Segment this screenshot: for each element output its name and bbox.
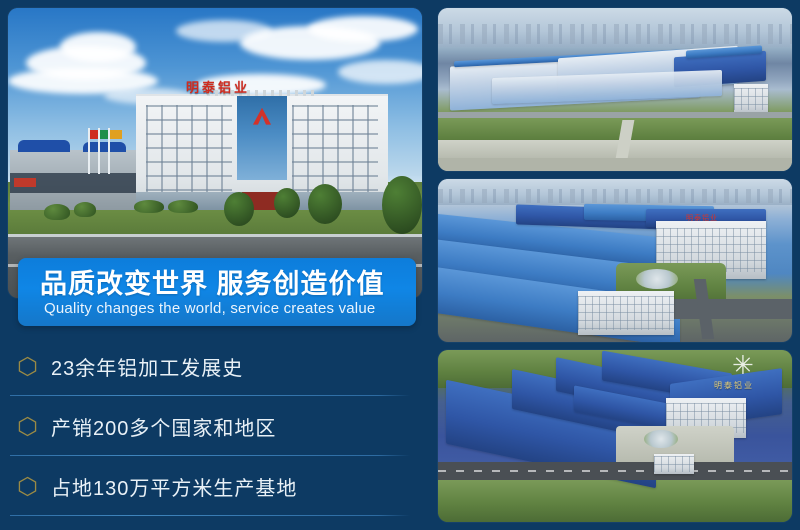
aerial-plant-close-photo: 明泰铝业 — [438, 179, 792, 342]
distant-city-skyline — [438, 24, 792, 44]
hexagon-outline-icon — [18, 356, 37, 377]
hexagon-outline-icon — [18, 476, 37, 497]
flag-pole — [108, 128, 110, 174]
fountain-shape — [644, 430, 678, 448]
shrub-shape — [74, 202, 96, 217]
promo-page: 明泰铝业 品质改变世界 服务创造价值 Quality changes the w… — [0, 0, 800, 530]
front-office-block — [578, 291, 674, 335]
company-headquarters-photo: 明泰铝业 — [8, 8, 422, 298]
tree-shape — [224, 192, 254, 226]
shrub-shape — [168, 200, 198, 213]
aerial-plant-wide-photo — [438, 8, 792, 171]
tree-shape — [308, 184, 342, 224]
cloud-shape — [60, 32, 136, 62]
flag-pole — [98, 128, 100, 174]
feature-list: 23余年铝加工发展史 产销200多个国家和地区 占地130万平方米生产基地 — [0, 336, 424, 530]
feature-label: 产销200多个国家和地区 — [51, 412, 276, 441]
hexagon-outline-icon — [18, 416, 37, 437]
tree-belt — [438, 480, 792, 522]
sunburst-icon: ✳ — [732, 352, 754, 378]
tree-shape — [382, 176, 422, 234]
headquarters-building — [136, 94, 388, 210]
flag-pole — [88, 128, 90, 174]
entrance-gate — [654, 454, 694, 474]
slogan-english-text: Quality changes the world, service creat… — [44, 300, 375, 317]
plant-office-block — [734, 84, 768, 114]
feature-label: 占地130万平方米生产基地 — [51, 472, 297, 501]
distant-buildings — [438, 189, 792, 204]
window-grid — [292, 105, 378, 201]
access-road — [438, 158, 792, 171]
feature-label: 23余年铝加工发展史 — [51, 352, 243, 381]
road-markings — [438, 470, 792, 472]
tree-shape — [274, 188, 300, 218]
feature-row[interactable]: 23余年铝加工发展史 — [0, 336, 424, 396]
rendered-company-sign: 明泰铝业 — [714, 380, 754, 391]
glass-curtain-wall — [237, 96, 287, 180]
plant-rendering-photo: 明泰铝业 ✳ — [438, 350, 792, 522]
red-sign-shape — [14, 178, 36, 187]
blue-roof-shape — [18, 140, 71, 152]
fountain-shape — [636, 269, 678, 289]
slogan-banner: 品质改变世界 服务创造价值 Quality changes the world,… — [18, 258, 416, 326]
feature-row[interactable]: 占地130万平方米生产基地 — [0, 456, 424, 516]
side-workshop-building — [10, 150, 136, 210]
shrub-shape — [134, 200, 164, 213]
shrub-shape — [44, 204, 70, 220]
feature-row[interactable]: 产销200多个国家和地区 — [0, 396, 424, 456]
slogan-chinese-text: 品质改变世界 服务创造价值 — [40, 262, 385, 301]
cloud-shape — [308, 16, 418, 42]
roof-company-sign: 明泰铝业 — [158, 80, 278, 96]
office-company-sign: 明泰铝业 — [686, 213, 718, 223]
window-grid — [146, 105, 232, 201]
